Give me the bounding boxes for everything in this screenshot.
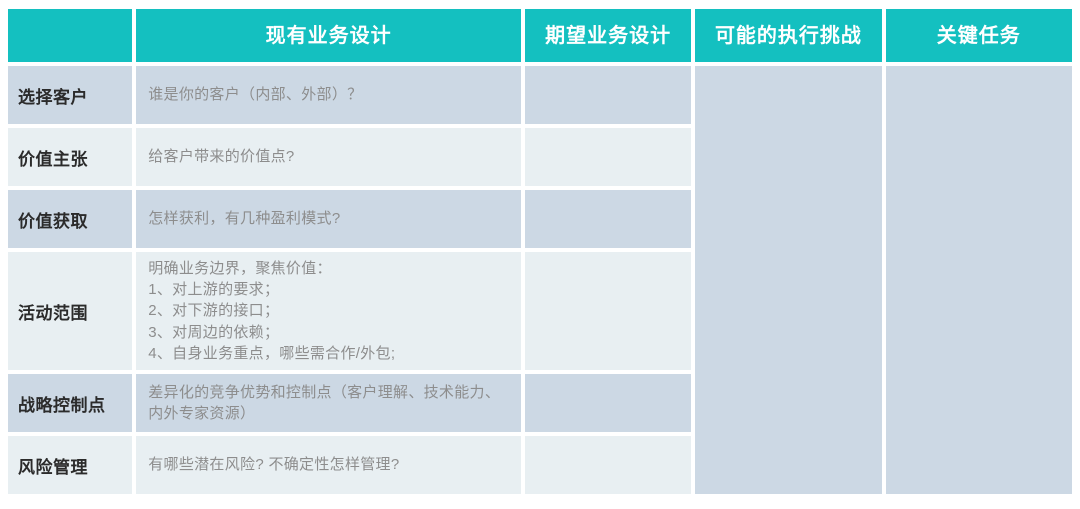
cell-possible-challenges-merged <box>695 66 881 494</box>
row-label-strategic-control-point: 战略控制点 <box>8 374 132 432</box>
table-header: 现有业务设计 期望业务设计 可能的执行挑战 关键任务 <box>8 9 1072 62</box>
header-corner-blank <box>8 9 132 62</box>
row-label-select-customer: 选择客户 <box>8 66 132 124</box>
header-current-design: 现有业务设计 <box>136 9 521 62</box>
header-expected-design: 期望业务设计 <box>525 9 691 62</box>
activity-scope-text: 明确业务边界，聚焦价值： 1、对上游的要求； 2、对下游的接口； 3、对周边的依… <box>148 258 511 364</box>
cell-current-design-select-customer: 谁是你的客户（内部、外部）？ <box>136 66 521 124</box>
table-body: 选择客户 谁是你的客户（内部、外部）？ 价值主张 给客户带来的价值点? 价值获取… <box>8 66 1072 494</box>
row-label-value-proposition: 价值主张 <box>8 128 132 186</box>
header-possible-challenges: 可能的执行挑战 <box>695 9 881 62</box>
cell-expected-design-risk-management <box>525 436 691 494</box>
cell-expected-design-activity-scope <box>525 252 691 370</box>
cell-current-design-risk-management: 有哪些潜在风险? 不确定性怎样管理? <box>136 436 521 494</box>
row-label-activity-scope: 活动范围 <box>8 252 132 370</box>
business-design-sheet: 现有业务设计 期望业务设计 可能的执行挑战 关键任务 选择客户 谁是你的客户（内… <box>0 0 1080 509</box>
cell-expected-design-value-capture <box>525 190 691 248</box>
cell-key-tasks-merged <box>886 66 1072 494</box>
cell-current-design-strategic-control-point: 差异化的竞争优势和控制点（客户理解、技术能力、内外专家资源） <box>136 374 521 432</box>
cell-current-design-value-proposition: 给客户带来的价值点? <box>136 128 521 186</box>
row-label-value-capture: 价值获取 <box>8 190 132 248</box>
table-row: 选择客户 谁是你的客户（内部、外部）？ <box>8 66 1072 124</box>
header-key-tasks: 关键任务 <box>886 9 1072 62</box>
row-label-risk-management: 风险管理 <box>8 436 132 494</box>
cell-expected-design-select-customer <box>525 66 691 124</box>
cell-current-design-value-capture: 怎样获利，有几种盈利模式? <box>136 190 521 248</box>
cell-expected-design-value-proposition <box>525 128 691 186</box>
cell-current-design-activity-scope: 明确业务边界，聚焦价值： 1、对上游的要求； 2、对下游的接口； 3、对周边的依… <box>136 252 521 370</box>
header-row: 现有业务设计 期望业务设计 可能的执行挑战 关键任务 <box>8 9 1072 62</box>
business-design-table: 现有业务设计 期望业务设计 可能的执行挑战 关键任务 选择客户 谁是你的客户（内… <box>4 5 1076 498</box>
cell-expected-design-strategic-control-point <box>525 374 691 432</box>
